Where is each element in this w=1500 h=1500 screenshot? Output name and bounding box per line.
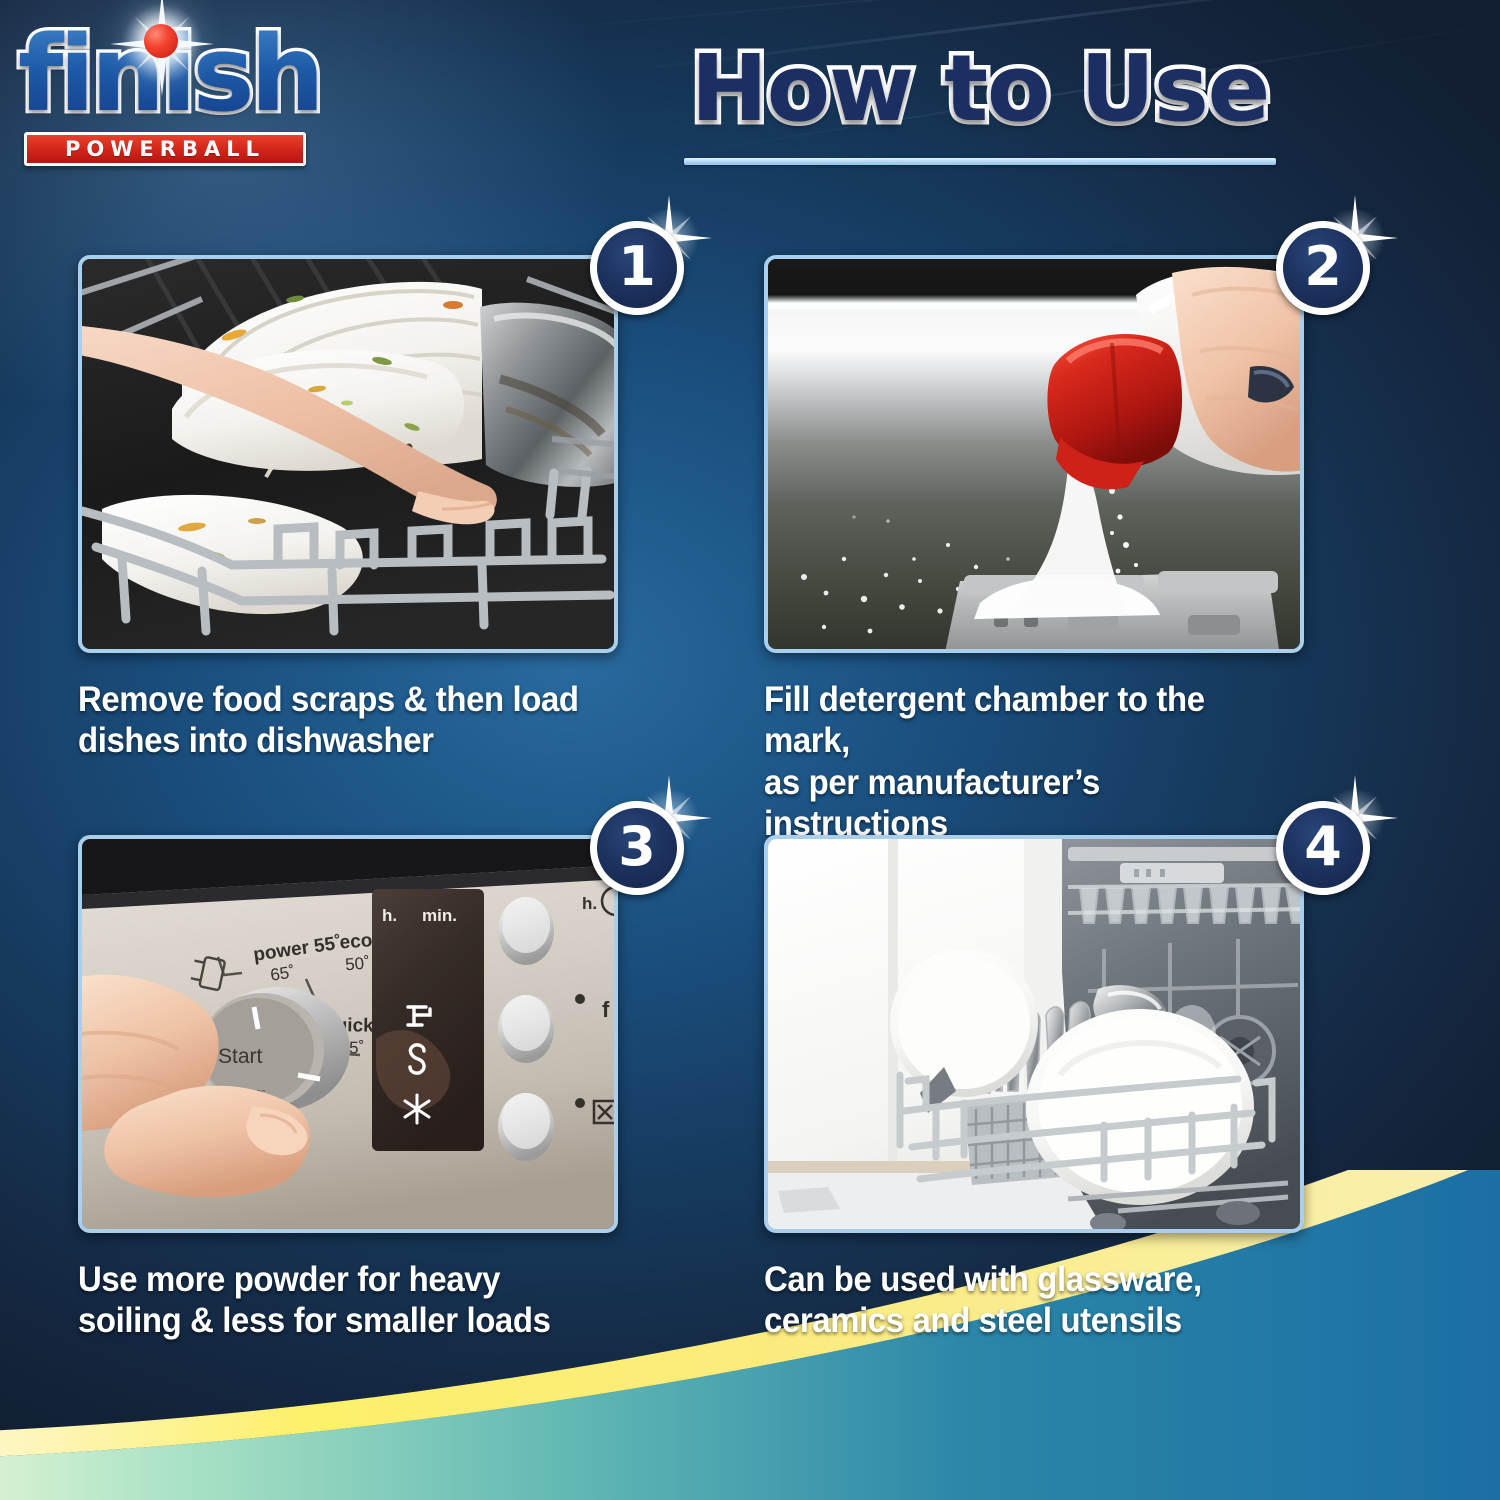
- step-caption: Fill detergent chamber to the mark, as p…: [764, 679, 1275, 844]
- step-card: 2 Fill detergent chamber to the mark, as…: [764, 255, 1308, 755]
- step-card: 1 Remove food scraps & then load dishes …: [78, 255, 622, 755]
- powerball-banner-label: POWERBALL: [65, 137, 265, 161]
- step-number: 4: [1304, 820, 1342, 874]
- photo-open-dishwasher-clean-dishes: [768, 839, 1300, 1229]
- step-card: power 55˚ 65˚ eco 50˚ quick 45˚: [78, 835, 622, 1335]
- svg-text:Start: Start: [218, 1045, 263, 1068]
- svg-text:h.: h.: [382, 906, 397, 925]
- photo-loading-dirty-dishes: [82, 259, 614, 649]
- powerball-banner: POWERBALL: [24, 132, 306, 166]
- step-badge-circle: 1: [590, 221, 684, 315]
- svg-text:50˚: 50˚: [345, 954, 371, 975]
- step-photo-frame: [764, 835, 1304, 1233]
- svg-text:f: f: [602, 997, 610, 1022]
- step-photo-frame: [78, 255, 618, 653]
- svg-text:min.: min.: [422, 906, 457, 925]
- poster-root: finish finish: [0, 0, 1500, 1500]
- step-number: 3: [618, 820, 656, 874]
- step-badge: 2: [1276, 221, 1370, 315]
- title-underline: [684, 158, 1276, 165]
- step-badge-circle: 4: [1276, 801, 1370, 895]
- red-powerball-icon: [144, 24, 178, 58]
- step-photo-frame: [764, 255, 1304, 653]
- step-badge: 3: [590, 801, 684, 895]
- photo-pouring-powder-into-chamber: [768, 259, 1300, 649]
- svg-text:eco: eco: [339, 930, 373, 953]
- page-title-text: How to Use: [600, 42, 1360, 136]
- page-title: How to Use How to Use: [600, 42, 1360, 165]
- light-streak: [520, 0, 1496, 32]
- step-badge-circle: 3: [590, 801, 684, 895]
- photo-dishwasher-control-panel: power 55˚ 65˚ eco 50˚ quick 45˚: [82, 839, 614, 1229]
- finish-powerball-logo: finish finish: [18, 18, 318, 170]
- step-photo-frame: power 55˚ 65˚ eco 50˚ quick 45˚: [78, 835, 618, 1233]
- step-badge: 1: [590, 221, 684, 315]
- svg-text:65˚: 65˚: [269, 962, 296, 984]
- svg-text:h.: h.: [582, 894, 597, 913]
- step-card: 4 Can be used with glassware, ceramics a…: [764, 835, 1308, 1335]
- step-badge-circle: 2: [1276, 221, 1370, 315]
- step-number: 1: [618, 240, 656, 294]
- step-badge: 4: [1276, 801, 1370, 895]
- step-caption: Remove food scraps & then load dishes in…: [78, 679, 589, 762]
- step-caption: Can be used with glassware, ceramics and…: [764, 1259, 1275, 1342]
- step-caption: Use more powder for heavy soiling & less…: [78, 1259, 589, 1342]
- steps-grid: 1 Remove food scraps & then load dishes …: [78, 255, 1426, 1335]
- step-number: 2: [1304, 240, 1342, 294]
